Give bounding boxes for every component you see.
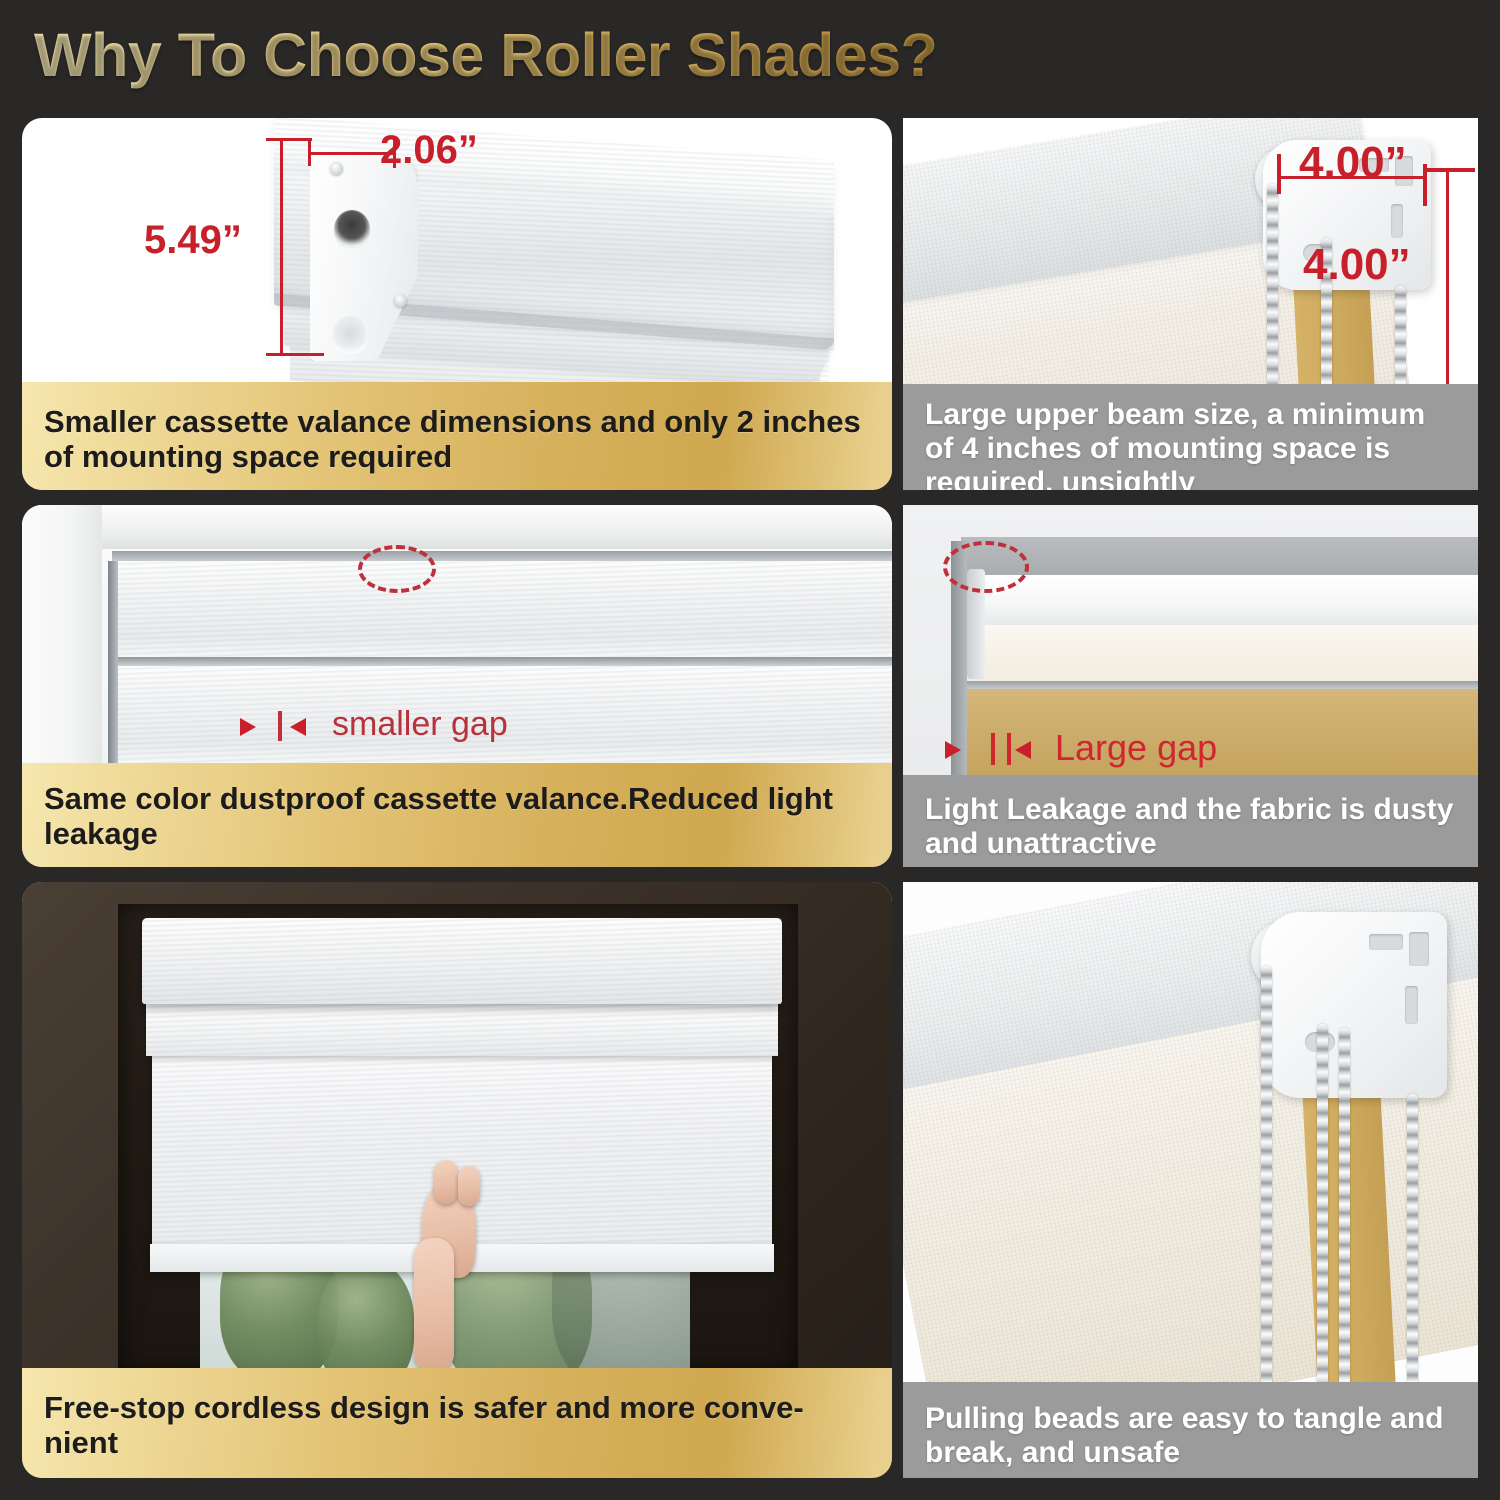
screw-dot-lower-icon bbox=[394, 294, 407, 307]
bracket-notch-2 bbox=[1409, 932, 1429, 966]
shade-left-edge bbox=[108, 561, 118, 763]
gap-arrow-left-icon bbox=[1015, 741, 1031, 759]
cassette-valance-band bbox=[114, 561, 892, 657]
bracket-notch-3 bbox=[1391, 204, 1403, 238]
width-dimension-tick-left bbox=[308, 138, 311, 166]
roller-tube-white bbox=[961, 575, 1478, 629]
height-dimension-tick-bottom bbox=[266, 353, 324, 356]
window-frame-top bbox=[22, 505, 892, 549]
height-dimension-tick-top bbox=[266, 138, 312, 141]
gap-marker-bar bbox=[278, 711, 282, 741]
panel-caption: Smaller cassette valance dimensions and … bbox=[22, 382, 892, 490]
valance-bottom-lip bbox=[112, 657, 892, 666]
cassette-header-texture bbox=[142, 918, 782, 1004]
tan-fabric-weave bbox=[961, 689, 1478, 785]
end-cap-socket-upper-icon bbox=[334, 210, 370, 248]
tree-left-2 bbox=[318, 1260, 414, 1374]
gap-highlight-ellipse-icon bbox=[358, 545, 436, 593]
smaller-gap-label: smaller gap bbox=[332, 705, 508, 744]
window-frame-left bbox=[22, 505, 102, 763]
height-dimension-label: 5.49” bbox=[144, 218, 242, 263]
end-cap-socket-lower-icon bbox=[332, 316, 368, 354]
beam-bracket bbox=[1261, 912, 1447, 1098]
shade-upper-fabric bbox=[146, 1004, 778, 1056]
fabric-divider-line bbox=[961, 681, 1478, 689]
cassette-top-edge bbox=[112, 551, 892, 561]
width-dimension-label: 2.06” bbox=[380, 128, 478, 173]
panel-caption: Free-stop cordless design is safer and m… bbox=[22, 1368, 892, 1478]
cream-fabric-band bbox=[961, 625, 1478, 683]
large-gap-label: Large gap bbox=[1055, 727, 1217, 769]
tan-dusty-fabric bbox=[961, 689, 1478, 785]
gap-arrow-left-icon bbox=[290, 718, 306, 736]
panel-cassette-valance: 2.06” 5.49” Smaller cassette valance dim… bbox=[22, 118, 892, 490]
shade-upper-texture bbox=[146, 1004, 778, 1056]
gap-marker-bar-1 bbox=[991, 733, 995, 765]
panel-pull-beads: Pulling beads are easy to tangle and bre… bbox=[903, 882, 1478, 1478]
bracket-notch-1 bbox=[1369, 934, 1403, 950]
beam-depth-tick-top bbox=[1423, 168, 1475, 172]
valance-band-texture bbox=[114, 561, 892, 657]
bracket-notch-3 bbox=[1405, 986, 1418, 1024]
panel-caption: Light Leakage and the fabric is dusty an… bbox=[903, 775, 1478, 867]
hand-finger-2 bbox=[458, 1166, 480, 1206]
gap-arrow-right-icon bbox=[945, 741, 961, 759]
comparison-grid: 2.06” 5.49” Smaller cassette valance dim… bbox=[0, 0, 1500, 1500]
cassette-valance-header bbox=[142, 918, 782, 1004]
gap-marker-bar-2 bbox=[1007, 733, 1011, 765]
height-dimension-line bbox=[280, 138, 283, 356]
panel-smaller-gap: smaller gap Same color dustproof cassett… bbox=[22, 505, 892, 867]
panel-caption: Same color dustproof cassette valance.Re… bbox=[22, 763, 892, 867]
forearm bbox=[414, 1238, 454, 1372]
panel-large-gap: Large gap Light Leakage and the fabric i… bbox=[903, 505, 1478, 867]
bead-chain-left bbox=[1261, 966, 1272, 1436]
gap-arrow-right-icon bbox=[240, 718, 256, 736]
panel-caption: Large upper beam size, a minimum of 4 in… bbox=[903, 384, 1478, 490]
panel-large-beam: 4.00” 4.00” Large upper beam size, a min… bbox=[903, 118, 1478, 490]
hand-finger-1 bbox=[434, 1160, 458, 1204]
bead-chain-middle bbox=[1317, 1024, 1328, 1436]
beam-width-dimension-label: 4.00” bbox=[1299, 138, 1407, 188]
gap-highlight-ellipse-icon bbox=[943, 541, 1029, 593]
panel-caption: Pulling beads are easy to tangle and bre… bbox=[903, 1382, 1478, 1478]
beam-depth-dimension-label: 4.00” bbox=[1303, 240, 1411, 290]
valance-product-image: 2.06” 5.49” bbox=[22, 118, 892, 390]
bead-chain-middle-2 bbox=[1339, 1028, 1350, 1436]
panel-cordless: Free-stop cordless design is safer and m… bbox=[22, 882, 892, 1478]
screw-dot-upper-icon bbox=[330, 162, 343, 175]
beam-width-tick-left bbox=[1277, 154, 1281, 194]
